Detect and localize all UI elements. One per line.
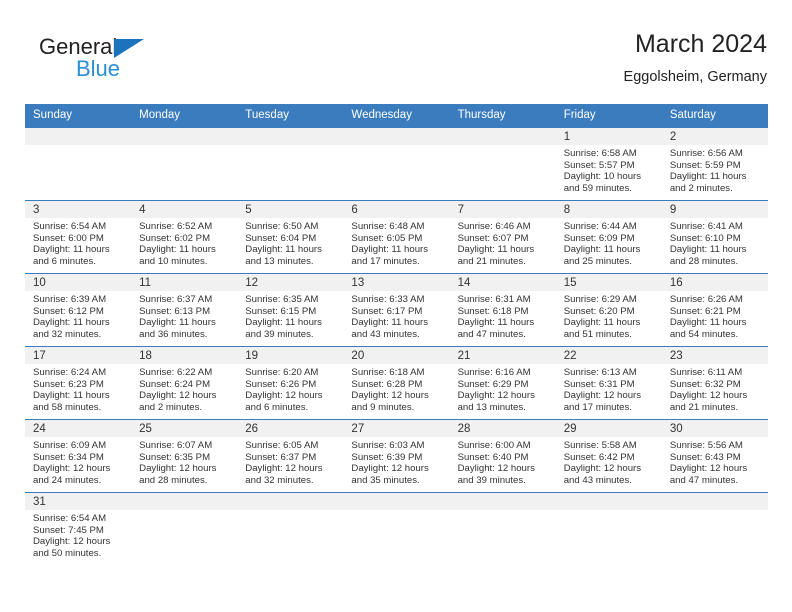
day-details: Sunrise: 6:56 AMSunset: 5:59 PMDaylight:… — [662, 145, 768, 194]
sunset-time: Sunset: 7:45 PM — [33, 525, 125, 537]
day-details: Sunrise: 6:35 AMSunset: 6:15 PMDaylight:… — [237, 291, 343, 340]
day-cell-inner: 19Sunrise: 6:20 AMSunset: 6:26 PMDayligh… — [237, 347, 343, 419]
daylight-duration-line-2: and 54 minutes. — [670, 329, 762, 341]
weekday-header-row: SundayMondayTuesdayWednesdayThursdayFrid… — [25, 104, 768, 128]
day-details: Sunrise: 6:22 AMSunset: 6:24 PMDaylight:… — [131, 364, 237, 413]
calendar-cell-empty — [343, 128, 449, 201]
sunrise-time: Sunrise: 5:58 AM — [564, 440, 656, 452]
daylight-duration-line-2: and 36 minutes. — [139, 329, 231, 341]
daylight-duration-line-1: Daylight: 12 hours — [458, 390, 550, 402]
sunrise-time: Sunrise: 6:41 AM — [670, 221, 762, 233]
sunset-time: Sunset: 6:02 PM — [139, 233, 231, 245]
day-details: Sunrise: 6:05 AMSunset: 6:37 PMDaylight:… — [237, 437, 343, 486]
day-details: Sunrise: 6:29 AMSunset: 6:20 PMDaylight:… — [556, 291, 662, 340]
calendar-day-cell[interactable]: 1Sunrise: 6:58 AMSunset: 5:57 PMDaylight… — [556, 128, 662, 201]
sunset-time: Sunset: 6:40 PM — [458, 452, 550, 464]
day-number: 24 — [25, 420, 131, 437]
day-number: 26 — [237, 420, 343, 437]
location-subtitle: Eggolsheim, Germany — [624, 66, 767, 88]
day-details: Sunrise: 6:37 AMSunset: 6:13 PMDaylight:… — [131, 291, 237, 340]
day-number: 15 — [556, 274, 662, 291]
sunrise-time: Sunrise: 6:33 AM — [351, 294, 443, 306]
calendar-day-cell[interactable]: 27Sunrise: 6:03 AMSunset: 6:39 PMDayligh… — [343, 420, 449, 493]
sunset-time: Sunset: 6:24 PM — [139, 379, 231, 391]
day-details: Sunrise: 6:44 AMSunset: 6:09 PMDaylight:… — [556, 218, 662, 267]
day-number: 28 — [450, 420, 556, 437]
daylight-duration-line-1: Daylight: 11 hours — [139, 244, 231, 256]
day-cell-inner: 21Sunrise: 6:16 AMSunset: 6:29 PMDayligh… — [450, 347, 556, 419]
day-number: 19 — [237, 347, 343, 364]
day-cell-inner — [343, 128, 449, 200]
day-cell-inner — [131, 493, 237, 565]
weekday-header-sunday: Sunday — [25, 104, 131, 128]
day-number: 11 — [131, 274, 237, 291]
day-cell-inner: 3Sunrise: 6:54 AMSunset: 6:00 PMDaylight… — [25, 201, 131, 273]
sunset-time: Sunset: 6:42 PM — [564, 452, 656, 464]
day-number — [237, 493, 343, 510]
day-number — [450, 128, 556, 145]
sunrise-time: Sunrise: 6:11 AM — [670, 367, 762, 379]
day-number: 6 — [343, 201, 449, 218]
daylight-duration-line-2: and 32 minutes. — [33, 329, 125, 341]
day-number: 31 — [25, 493, 131, 510]
daylight-duration-line-2: and 47 minutes. — [458, 329, 550, 341]
sunrise-time: Sunrise: 6:50 AM — [245, 221, 337, 233]
day-details: Sunrise: 6:54 AMSunset: 6:00 PMDaylight:… — [25, 218, 131, 267]
calendar-cell-empty — [25, 128, 131, 201]
daylight-duration-line-2: and 17 minutes. — [564, 402, 656, 414]
daylight-duration-line-2: and 2 minutes. — [670, 183, 762, 195]
sunrise-time: Sunrise: 6:52 AM — [139, 221, 231, 233]
calendar-day-cell[interactable]: 21Sunrise: 6:16 AMSunset: 6:29 PMDayligh… — [450, 347, 556, 420]
day-cell-inner: 29Sunrise: 5:58 AMSunset: 6:42 PMDayligh… — [556, 420, 662, 492]
sunset-time: Sunset: 6:23 PM — [33, 379, 125, 391]
daylight-duration-line-2: and 59 minutes. — [564, 183, 656, 195]
sunset-time: Sunset: 6:09 PM — [564, 233, 656, 245]
calendar-day-cell[interactable]: 29Sunrise: 5:58 AMSunset: 6:42 PMDayligh… — [556, 420, 662, 493]
weekday-header-saturday: Saturday — [662, 104, 768, 128]
day-cell-inner — [556, 493, 662, 565]
day-cell-inner: 1Sunrise: 6:58 AMSunset: 5:57 PMDaylight… — [556, 128, 662, 200]
day-number: 13 — [343, 274, 449, 291]
calendar-day-cell[interactable]: 25Sunrise: 6:07 AMSunset: 6:35 PMDayligh… — [131, 420, 237, 493]
daylight-duration-line-1: Daylight: 11 hours — [351, 244, 443, 256]
day-number — [131, 493, 237, 510]
day-cell-inner — [450, 493, 556, 565]
day-cell-inner: 6Sunrise: 6:48 AMSunset: 6:05 PMDaylight… — [343, 201, 449, 273]
day-details: Sunrise: 6:46 AMSunset: 6:07 PMDaylight:… — [450, 218, 556, 267]
weekday-header-friday: Friday — [556, 104, 662, 128]
calendar-day-cell[interactable]: 18Sunrise: 6:22 AMSunset: 6:24 PMDayligh… — [131, 347, 237, 420]
day-cell-inner: 2Sunrise: 6:56 AMSunset: 5:59 PMDaylight… — [662, 128, 768, 200]
sunset-time: Sunset: 6:39 PM — [351, 452, 443, 464]
calendar-day-cell[interactable]: 31Sunrise: 6:54 AMSunset: 7:45 PMDayligh… — [25, 493, 131, 566]
sunrise-time: Sunrise: 6:31 AM — [458, 294, 550, 306]
daylight-duration-line-1: Daylight: 12 hours — [245, 390, 337, 402]
daylight-duration-line-2: and 39 minutes. — [458, 475, 550, 487]
daylight-duration-line-1: Daylight: 11 hours — [351, 317, 443, 329]
daylight-duration-line-2: and 10 minutes. — [139, 256, 231, 268]
sunset-time: Sunset: 6:32 PM — [670, 379, 762, 391]
day-cell-inner: 14Sunrise: 6:31 AMSunset: 6:18 PMDayligh… — [450, 274, 556, 346]
sunrise-time: Sunrise: 6:44 AM — [564, 221, 656, 233]
day-number: 7 — [450, 201, 556, 218]
calendar-week-row: 1Sunrise: 6:58 AMSunset: 5:57 PMDaylight… — [25, 128, 768, 201]
daylight-duration-line-1: Daylight: 12 hours — [564, 463, 656, 475]
calendar-cell-empty — [237, 493, 343, 566]
daylight-duration-line-2: and 2 minutes. — [139, 402, 231, 414]
sunset-time: Sunset: 6:26 PM — [245, 379, 337, 391]
day-number: 8 — [556, 201, 662, 218]
daylight-duration-line-1: Daylight: 11 hours — [33, 390, 125, 402]
day-cell-inner: 11Sunrise: 6:37 AMSunset: 6:13 PMDayligh… — [131, 274, 237, 346]
day-number: 16 — [662, 274, 768, 291]
daylight-duration-line-2: and 21 minutes. — [670, 402, 762, 414]
sunrise-time: Sunrise: 6:56 AM — [670, 148, 762, 160]
day-details: Sunrise: 6:24 AMSunset: 6:23 PMDaylight:… — [25, 364, 131, 413]
daylight-duration-line-1: Daylight: 11 hours — [33, 244, 125, 256]
calendar-cell-empty — [131, 493, 237, 566]
sunset-time: Sunset: 6:29 PM — [458, 379, 550, 391]
sunrise-time: Sunrise: 6:13 AM — [564, 367, 656, 379]
day-details: Sunrise: 6:20 AMSunset: 6:26 PMDaylight:… — [237, 364, 343, 413]
calendar-day-cell[interactable]: 5Sunrise: 6:50 AMSunset: 6:04 PMDaylight… — [237, 201, 343, 274]
calendar-day-cell[interactable]: 8Sunrise: 6:44 AMSunset: 6:09 PMDaylight… — [556, 201, 662, 274]
daylight-duration-line-1: Daylight: 12 hours — [139, 390, 231, 402]
sunset-time: Sunset: 6:13 PM — [139, 306, 231, 318]
sunset-time: Sunset: 6:31 PM — [564, 379, 656, 391]
calendar-day-cell[interactable]: 15Sunrise: 6:29 AMSunset: 6:20 PMDayligh… — [556, 274, 662, 347]
day-cell-inner: 17Sunrise: 6:24 AMSunset: 6:23 PMDayligh… — [25, 347, 131, 419]
daylight-duration-line-2: and 43 minutes. — [351, 329, 443, 341]
day-cell-inner — [450, 128, 556, 200]
sunrise-time: Sunrise: 6:24 AM — [33, 367, 125, 379]
day-cell-inner: 15Sunrise: 6:29 AMSunset: 6:20 PMDayligh… — [556, 274, 662, 346]
sunset-time: Sunset: 6:00 PM — [33, 233, 125, 245]
sunset-time: Sunset: 6:12 PM — [33, 306, 125, 318]
daylight-duration-line-2: and 17 minutes. — [351, 256, 443, 268]
daylight-duration-line-2: and 39 minutes. — [245, 329, 337, 341]
day-cell-inner: 8Sunrise: 6:44 AMSunset: 6:09 PMDaylight… — [556, 201, 662, 273]
sunset-time: Sunset: 6:10 PM — [670, 233, 762, 245]
day-number: 25 — [131, 420, 237, 437]
sunset-time: Sunset: 5:59 PM — [670, 160, 762, 172]
calendar-day-cell[interactable]: 24Sunrise: 6:09 AMSunset: 6:34 PMDayligh… — [25, 420, 131, 493]
calendar-day-cell[interactable]: 12Sunrise: 6:35 AMSunset: 6:15 PMDayligh… — [237, 274, 343, 347]
day-details: Sunrise: 6:26 AMSunset: 6:21 PMDaylight:… — [662, 291, 768, 340]
sunrise-time: Sunrise: 6:39 AM — [33, 294, 125, 306]
weekday-header-monday: Monday — [131, 104, 237, 128]
daylight-duration-line-1: Daylight: 11 hours — [670, 317, 762, 329]
day-details: Sunrise: 6:58 AMSunset: 5:57 PMDaylight:… — [556, 145, 662, 194]
calendar-week-row: 17Sunrise: 6:24 AMSunset: 6:23 PMDayligh… — [25, 347, 768, 420]
daylight-duration-line-1: Daylight: 11 hours — [564, 244, 656, 256]
day-number: 18 — [131, 347, 237, 364]
day-number: 20 — [343, 347, 449, 364]
sunset-time: Sunset: 6:28 PM — [351, 379, 443, 391]
weekday-header-wednesday: Wednesday — [343, 104, 449, 128]
daylight-duration-line-2: and 25 minutes. — [564, 256, 656, 268]
calendar-day-cell[interactable]: 9Sunrise: 6:41 AMSunset: 6:10 PMDaylight… — [662, 201, 768, 274]
day-details: Sunrise: 6:50 AMSunset: 6:04 PMDaylight:… — [237, 218, 343, 267]
day-number — [450, 493, 556, 510]
daylight-duration-line-1: Daylight: 12 hours — [564, 390, 656, 402]
daylight-duration-line-2: and 6 minutes. — [33, 256, 125, 268]
daylight-duration-line-1: Daylight: 12 hours — [458, 463, 550, 475]
day-number — [343, 493, 449, 510]
calendar-day-cell[interactable]: 10Sunrise: 6:39 AMSunset: 6:12 PMDayligh… — [25, 274, 131, 347]
daylight-duration-line-1: Daylight: 11 hours — [33, 317, 125, 329]
sunset-time: Sunset: 6:43 PM — [670, 452, 762, 464]
day-cell-inner: 7Sunrise: 6:46 AMSunset: 6:07 PMDaylight… — [450, 201, 556, 273]
daylight-duration-line-2: and 50 minutes. — [33, 548, 125, 560]
calendar-day-cell[interactable]: 2Sunrise: 6:56 AMSunset: 5:59 PMDaylight… — [662, 128, 768, 201]
day-details: Sunrise: 6:11 AMSunset: 6:32 PMDaylight:… — [662, 364, 768, 413]
daylight-duration-line-1: Daylight: 11 hours — [670, 244, 762, 256]
day-cell-inner: 30Sunrise: 5:56 AMSunset: 6:43 PMDayligh… — [662, 420, 768, 492]
day-cell-inner: 25Sunrise: 6:07 AMSunset: 6:35 PMDayligh… — [131, 420, 237, 492]
calendar-day-cell[interactable]: 26Sunrise: 6:05 AMSunset: 6:37 PMDayligh… — [237, 420, 343, 493]
calendar-cell-empty — [662, 493, 768, 566]
sunrise-time: Sunrise: 6:18 AM — [351, 367, 443, 379]
day-number: 12 — [237, 274, 343, 291]
daylight-duration-line-2: and 13 minutes. — [245, 256, 337, 268]
calendar-day-cell[interactable]: 16Sunrise: 6:26 AMSunset: 6:21 PMDayligh… — [662, 274, 768, 347]
calendar-cell-empty — [343, 493, 449, 566]
sunrise-time: Sunrise: 6:22 AM — [139, 367, 231, 379]
calendar-cell-empty — [450, 128, 556, 201]
calendar-week-row: 3Sunrise: 6:54 AMSunset: 6:00 PMDaylight… — [25, 201, 768, 274]
sunrise-time: Sunrise: 6:58 AM — [564, 148, 656, 160]
calendar-day-cell[interactable]: 7Sunrise: 6:46 AMSunset: 6:07 PMDaylight… — [450, 201, 556, 274]
daylight-duration-line-1: Daylight: 12 hours — [670, 390, 762, 402]
day-details: Sunrise: 5:56 AMSunset: 6:43 PMDaylight:… — [662, 437, 768, 486]
day-cell-inner: 18Sunrise: 6:22 AMSunset: 6:24 PMDayligh… — [131, 347, 237, 419]
day-number — [662, 493, 768, 510]
calendar-week-row: 31Sunrise: 6:54 AMSunset: 7:45 PMDayligh… — [25, 493, 768, 566]
day-details: Sunrise: 6:41 AMSunset: 6:10 PMDaylight:… — [662, 218, 768, 267]
day-cell-inner: 20Sunrise: 6:18 AMSunset: 6:28 PMDayligh… — [343, 347, 449, 419]
day-cell-inner: 22Sunrise: 6:13 AMSunset: 6:31 PMDayligh… — [556, 347, 662, 419]
day-number: 3 — [25, 201, 131, 218]
daylight-duration-line-1: Daylight: 10 hours — [564, 171, 656, 183]
calendar-day-cell[interactable]: 11Sunrise: 6:37 AMSunset: 6:13 PMDayligh… — [131, 274, 237, 347]
day-number: 22 — [556, 347, 662, 364]
day-cell-inner: 24Sunrise: 6:09 AMSunset: 6:34 PMDayligh… — [25, 420, 131, 492]
title-block: March 2024 Eggolsheim, Germany — [624, 28, 767, 88]
day-cell-inner: 12Sunrise: 6:35 AMSunset: 6:15 PMDayligh… — [237, 274, 343, 346]
daylight-duration-line-2: and 51 minutes. — [564, 329, 656, 341]
day-number: 5 — [237, 201, 343, 218]
day-cell-inner: 4Sunrise: 6:52 AMSunset: 6:02 PMDaylight… — [131, 201, 237, 273]
sunset-time: Sunset: 6:35 PM — [139, 452, 231, 464]
sunrise-time: Sunrise: 6:46 AM — [458, 221, 550, 233]
day-details: Sunrise: 6:00 AMSunset: 6:40 PMDaylight:… — [450, 437, 556, 486]
day-details: Sunrise: 6:31 AMSunset: 6:18 PMDaylight:… — [450, 291, 556, 340]
daylight-duration-line-1: Daylight: 12 hours — [33, 463, 125, 475]
day-details: Sunrise: 6:07 AMSunset: 6:35 PMDaylight:… — [131, 437, 237, 486]
day-number — [343, 128, 449, 145]
calendar-day-cell[interactable]: 23Sunrise: 6:11 AMSunset: 6:32 PMDayligh… — [662, 347, 768, 420]
day-cell-inner: 26Sunrise: 6:05 AMSunset: 6:37 PMDayligh… — [237, 420, 343, 492]
sunset-time: Sunset: 6:18 PM — [458, 306, 550, 318]
day-details: Sunrise: 5:58 AMSunset: 6:42 PMDaylight:… — [556, 437, 662, 486]
sunset-time: Sunset: 6:37 PM — [245, 452, 337, 464]
calendar-day-cell[interactable]: 30Sunrise: 5:56 AMSunset: 6:43 PMDayligh… — [662, 420, 768, 493]
sunset-time: Sunset: 6:04 PM — [245, 233, 337, 245]
daylight-duration-line-2: and 28 minutes. — [670, 256, 762, 268]
day-details: Sunrise: 6:33 AMSunset: 6:17 PMDaylight:… — [343, 291, 449, 340]
daylight-duration-line-1: Daylight: 12 hours — [670, 463, 762, 475]
sunrise-sunset-calendar: SundayMondayTuesdayWednesdayThursdayFrid… — [25, 104, 768, 565]
daylight-duration-line-1: Daylight: 12 hours — [351, 463, 443, 475]
day-cell-inner: 27Sunrise: 6:03 AMSunset: 6:39 PMDayligh… — [343, 420, 449, 492]
calendar-body: 1Sunrise: 6:58 AMSunset: 5:57 PMDaylight… — [25, 128, 768, 566]
day-number: 17 — [25, 347, 131, 364]
day-cell-inner: 31Sunrise: 6:54 AMSunset: 7:45 PMDayligh… — [25, 493, 131, 565]
sunrise-time: Sunrise: 6:35 AM — [245, 294, 337, 306]
calendar-cell-empty — [556, 493, 662, 566]
sunrise-time: Sunrise: 6:07 AM — [139, 440, 231, 452]
calendar-day-cell[interactable]: 13Sunrise: 6:33 AMSunset: 6:17 PMDayligh… — [343, 274, 449, 347]
daylight-duration-line-2: and 21 minutes. — [458, 256, 550, 268]
day-number: 2 — [662, 128, 768, 145]
daylight-duration-line-2: and 35 minutes. — [351, 475, 443, 487]
sunset-time: Sunset: 6:21 PM — [670, 306, 762, 318]
calendar-cell-empty — [450, 493, 556, 566]
day-cell-inner — [237, 128, 343, 200]
calendar-day-cell[interactable]: 6Sunrise: 6:48 AMSunset: 6:05 PMDaylight… — [343, 201, 449, 274]
daylight-duration-line-2: and 47 minutes. — [670, 475, 762, 487]
day-cell-inner — [662, 493, 768, 565]
sunset-time: Sunset: 6:07 PM — [458, 233, 550, 245]
day-details: Sunrise: 6:54 AMSunset: 7:45 PMDaylight:… — [25, 510, 131, 559]
sunrise-time: Sunrise: 6:54 AM — [33, 221, 125, 233]
day-details: Sunrise: 6:39 AMSunset: 6:12 PMDaylight:… — [25, 291, 131, 340]
day-number: 1 — [556, 128, 662, 145]
calendar-day-cell[interactable]: 22Sunrise: 6:13 AMSunset: 6:31 PMDayligh… — [556, 347, 662, 420]
day-number: 29 — [556, 420, 662, 437]
day-cell-inner — [343, 493, 449, 565]
day-number — [25, 128, 131, 145]
calendar-cell-empty — [237, 128, 343, 201]
sunset-time: Sunset: 6:17 PM — [351, 306, 443, 318]
sunrise-time: Sunrise: 6:48 AM — [351, 221, 443, 233]
calendar-day-cell[interactable]: 14Sunrise: 6:31 AMSunset: 6:18 PMDayligh… — [450, 274, 556, 347]
calendar-week-row: 24Sunrise: 6:09 AMSunset: 6:34 PMDayligh… — [25, 420, 768, 493]
day-number — [556, 493, 662, 510]
calendar-header-row: SundayMondayTuesdayWednesdayThursdayFrid… — [25, 104, 768, 128]
day-cell-inner — [131, 128, 237, 200]
daylight-duration-line-2: and 32 minutes. — [245, 475, 337, 487]
day-number — [131, 128, 237, 145]
sunrise-time: Sunrise: 6:00 AM — [458, 440, 550, 452]
daylight-duration-line-1: Daylight: 11 hours — [245, 317, 337, 329]
calendar-day-cell[interactable]: 20Sunrise: 6:18 AMSunset: 6:28 PMDayligh… — [343, 347, 449, 420]
day-number: 27 — [343, 420, 449, 437]
weekday-header-tuesday: Tuesday — [237, 104, 343, 128]
calendar-day-cell[interactable]: 19Sunrise: 6:20 AMSunset: 6:26 PMDayligh… — [237, 347, 343, 420]
day-cell-inner: 9Sunrise: 6:41 AMSunset: 6:10 PMDaylight… — [662, 201, 768, 273]
page-title: March 2024 — [624, 28, 767, 60]
sunrise-time: Sunrise: 6:26 AM — [670, 294, 762, 306]
day-details: Sunrise: 6:52 AMSunset: 6:02 PMDaylight:… — [131, 218, 237, 267]
calendar-day-cell[interactable]: 17Sunrise: 6:24 AMSunset: 6:23 PMDayligh… — [25, 347, 131, 420]
day-cell-inner: 10Sunrise: 6:39 AMSunset: 6:12 PMDayligh… — [25, 274, 131, 346]
sunrise-time: Sunrise: 6:05 AM — [245, 440, 337, 452]
sunrise-time: Sunrise: 6:09 AM — [33, 440, 125, 452]
day-details: Sunrise: 6:48 AMSunset: 6:05 PMDaylight:… — [343, 218, 449, 267]
daylight-duration-line-2: and 58 minutes. — [33, 402, 125, 414]
sunrise-time: Sunrise: 6:37 AM — [139, 294, 231, 306]
daylight-duration-line-2: and 9 minutes. — [351, 402, 443, 414]
sunset-time: Sunset: 6:20 PM — [564, 306, 656, 318]
day-number: 4 — [131, 201, 237, 218]
day-details: Sunrise: 6:13 AMSunset: 6:31 PMDaylight:… — [556, 364, 662, 413]
day-number: 9 — [662, 201, 768, 218]
day-details: Sunrise: 6:09 AMSunset: 6:34 PMDaylight:… — [25, 437, 131, 486]
calendar-day-cell[interactable]: 4Sunrise: 6:52 AMSunset: 6:02 PMDaylight… — [131, 201, 237, 274]
day-cell-inner: 23Sunrise: 6:11 AMSunset: 6:32 PMDayligh… — [662, 347, 768, 419]
daylight-duration-line-1: Daylight: 12 hours — [245, 463, 337, 475]
day-number — [237, 128, 343, 145]
day-number: 30 — [662, 420, 768, 437]
day-number: 10 — [25, 274, 131, 291]
day-cell-inner: 28Sunrise: 6:00 AMSunset: 6:40 PMDayligh… — [450, 420, 556, 492]
daylight-duration-line-1: Daylight: 11 hours — [245, 244, 337, 256]
calendar-week-row: 10Sunrise: 6:39 AMSunset: 6:12 PMDayligh… — [25, 274, 768, 347]
daylight-duration-line-1: Daylight: 11 hours — [458, 244, 550, 256]
daylight-duration-line-2: and 28 minutes. — [139, 475, 231, 487]
daylight-duration-line-1: Daylight: 12 hours — [33, 536, 125, 548]
sunset-time: Sunset: 5:57 PM — [564, 160, 656, 172]
sunrise-time: Sunrise: 6:29 AM — [564, 294, 656, 306]
daylight-duration-line-1: Daylight: 12 hours — [139, 463, 231, 475]
daylight-duration-line-1: Daylight: 11 hours — [458, 317, 550, 329]
calendar-page: General Blue March 2024 Eggolsheim, Germ… — [0, 0, 792, 612]
day-cell-inner: 13Sunrise: 6:33 AMSunset: 6:17 PMDayligh… — [343, 274, 449, 346]
calendar-day-cell[interactable]: 28Sunrise: 6:00 AMSunset: 6:40 PMDayligh… — [450, 420, 556, 493]
daylight-duration-line-2: and 6 minutes. — [245, 402, 337, 414]
daylight-duration-line-1: Daylight: 11 hours — [670, 171, 762, 183]
daylight-duration-line-1: Daylight: 11 hours — [139, 317, 231, 329]
day-details: Sunrise: 6:03 AMSunset: 6:39 PMDaylight:… — [343, 437, 449, 486]
calendar-day-cell[interactable]: 3Sunrise: 6:54 AMSunset: 6:00 PMDaylight… — [25, 201, 131, 274]
day-number: 21 — [450, 347, 556, 364]
sunset-time: Sunset: 6:34 PM — [33, 452, 125, 464]
day-number: 14 — [450, 274, 556, 291]
day-number: 23 — [662, 347, 768, 364]
page-header: General Blue March 2024 Eggolsheim, Germ… — [25, 28, 767, 100]
sunrise-time: Sunrise: 6:16 AM — [458, 367, 550, 379]
general-blue-logo[interactable]: General Blue — [39, 34, 219, 92]
sunset-time: Sunset: 6:05 PM — [351, 233, 443, 245]
sunrise-time: Sunrise: 5:56 AM — [670, 440, 762, 452]
day-details: Sunrise: 6:16 AMSunset: 6:29 PMDaylight:… — [450, 364, 556, 413]
sunset-time: Sunset: 6:15 PM — [245, 306, 337, 318]
daylight-duration-line-1: Daylight: 12 hours — [351, 390, 443, 402]
day-cell-inner: 16Sunrise: 6:26 AMSunset: 6:21 PMDayligh… — [662, 274, 768, 346]
day-cell-inner: 5Sunrise: 6:50 AMSunset: 6:04 PMDaylight… — [237, 201, 343, 273]
sunrise-time: Sunrise: 6:03 AM — [351, 440, 443, 452]
daylight-duration-line-2: and 43 minutes. — [564, 475, 656, 487]
calendar-cell-empty — [131, 128, 237, 201]
daylight-duration-line-2: and 24 minutes. — [33, 475, 125, 487]
day-details: Sunrise: 6:18 AMSunset: 6:28 PMDaylight:… — [343, 364, 449, 413]
daylight-duration-line-1: Daylight: 11 hours — [564, 317, 656, 329]
sunrise-time: Sunrise: 6:54 AM — [33, 513, 125, 525]
weekday-header-thursday: Thursday — [450, 104, 556, 128]
